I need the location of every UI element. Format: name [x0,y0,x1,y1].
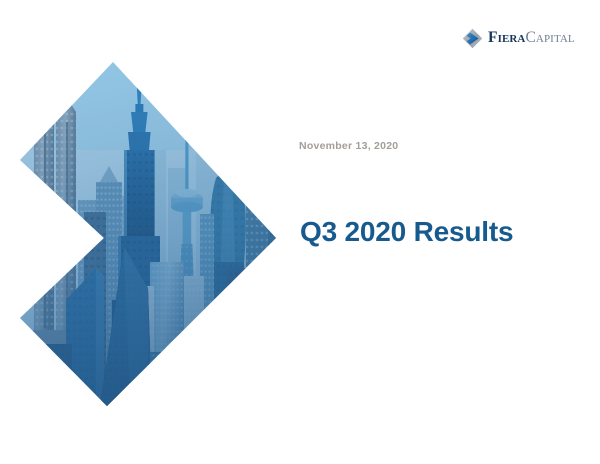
fiera-capital-logo: FieraCapital [462,26,575,50]
presentation-slide: FieraCapital November 13, 2020 Q3 2020 R… [0,0,600,464]
logo-word-capital: Capital [525,30,574,46]
cityscape-chevron-graphic [0,0,300,464]
slide-title: Q3 2020 Results [300,216,513,248]
logo-word-fiera: Fiera [488,30,525,46]
slide-date: November 13, 2020 [299,140,398,152]
logo-wordmark: FieraCapital [488,30,575,46]
fiera-diamond-chevron-mark-icon [462,28,483,49]
